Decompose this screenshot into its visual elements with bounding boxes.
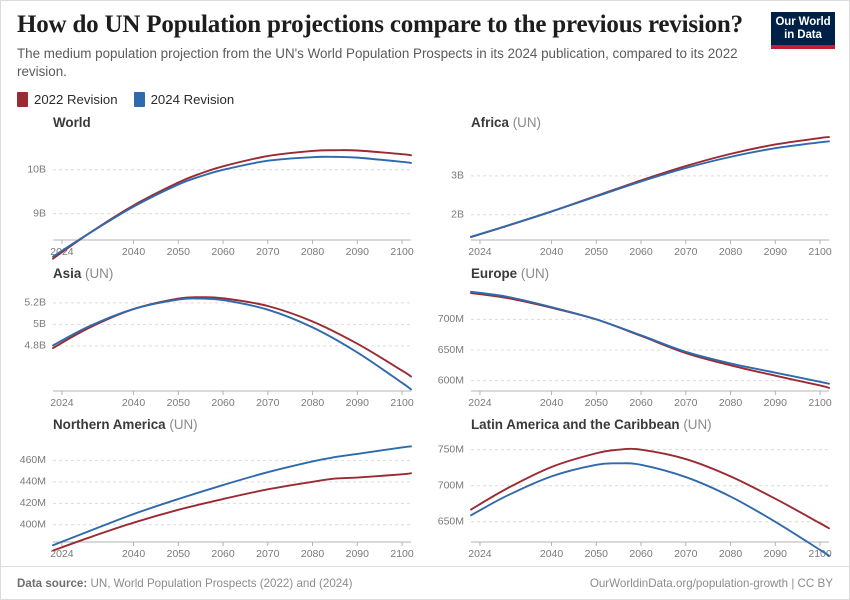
panel-northern-america[interactable]: Northern America (UN) 460M440M420M400M20…	[7, 415, 425, 566]
panel-entity-name: Asia	[53, 266, 81, 281]
page-title: How do UN Population projections compare…	[17, 11, 762, 39]
chart-subtitle: The medium population projection from th…	[17, 45, 757, 80]
our-world-in-data-logo[interactable]: Our World in Data	[771, 12, 835, 49]
x-axis-tick-label: 2024	[468, 548, 492, 560]
x-axis-tick-label: 2040	[122, 548, 146, 560]
panel-source-tag: (UN)	[169, 417, 197, 432]
y-axis-tick-label: 440M	[20, 476, 46, 488]
legend-label-2024-revision: 2024 Revision	[151, 92, 235, 107]
panel-source-tag: (UN)	[85, 266, 113, 281]
x-axis-tick-label: 2090	[346, 548, 370, 560]
panel-source-tag: (UN)	[683, 417, 711, 432]
x-axis-tick-label: 2100	[808, 246, 832, 258]
x-axis-tick-label: 2024	[468, 246, 492, 258]
panel-title-europe: Europe (UN)	[471, 266, 549, 281]
series-line	[471, 137, 829, 237]
y-axis-tick-label: 5.2B	[24, 297, 46, 309]
panel-entity-name: Europe	[471, 266, 517, 281]
series-line	[471, 292, 829, 384]
owid-chart-page: How do UN Population projections compare…	[0, 0, 850, 600]
x-axis-tick-label: 2080	[301, 397, 325, 409]
x-axis-tick-label: 2050	[585, 397, 609, 409]
series-line	[53, 447, 411, 546]
chart-footer: Data source: UN, World Population Prospe…	[1, 566, 849, 599]
y-axis-tick-label: 600M	[438, 375, 464, 387]
legend-item-2022-revision[interactable]: 2022 Revision	[17, 92, 118, 107]
panel-source-tag: (UN)	[521, 266, 549, 281]
chart-svg-africa: 3B2B20242040205020602070208020902100	[425, 113, 843, 264]
legend-label-2022-revision: 2022 Revision	[34, 92, 118, 107]
x-axis-tick-label: 2090	[346, 397, 370, 409]
x-axis-tick-label: 2070	[256, 246, 280, 258]
series-line	[471, 449, 829, 528]
legend-item-2024-revision[interactable]: 2024 Revision	[134, 92, 235, 107]
data-source-label: Data source:	[17, 577, 87, 590]
x-axis-tick-label: 2050	[167, 548, 191, 560]
x-axis-tick-label: 2024	[50, 397, 74, 409]
y-axis-tick-label: 4.8B	[24, 340, 46, 352]
panel-europe[interactable]: Europe (UN) 700M650M600M2024204020502060…	[425, 264, 843, 415]
series-line	[53, 474, 411, 551]
x-axis-tick-label: 2040	[122, 397, 146, 409]
y-axis-tick-label: 700M	[438, 314, 464, 326]
x-axis-tick-label: 2080	[301, 548, 325, 560]
panel-latin-america-caribbean[interactable]: Latin America and the Caribbean (UN) 750…	[425, 415, 843, 566]
x-axis-tick-label: 2080	[719, 548, 743, 560]
y-axis-tick-label: 2B	[451, 209, 464, 221]
x-axis-tick-label: 2100	[390, 397, 414, 409]
x-axis-tick-label: 2080	[719, 246, 743, 258]
panel-asia[interactable]: Asia (UN) 5.2B5B4.8B20242040205020602070…	[7, 264, 425, 415]
series-line	[471, 142, 829, 237]
chart-svg-latin-america-caribbean: 750M700M650M2024204020502060207020802090…	[425, 415, 843, 566]
chart-svg-northern-america: 460M440M420M400M202420402050206020702080…	[7, 415, 425, 566]
x-axis-tick-label: 2060	[211, 246, 235, 258]
panel-entity-name: World	[53, 115, 91, 130]
x-axis-tick-label: 2040	[540, 397, 564, 409]
y-axis-tick-label: 5B	[33, 319, 46, 331]
x-axis-tick-label: 2090	[764, 397, 788, 409]
x-axis-tick-label: 2070	[674, 548, 698, 560]
x-axis-tick-label: 2080	[301, 246, 325, 258]
panel-source-tag: (UN)	[513, 115, 541, 130]
data-source-text: UN, World Population Prospects (2022) an…	[90, 577, 352, 590]
x-axis-tick-label: 2090	[764, 246, 788, 258]
data-source-line: Data source: UN, World Population Prospe…	[17, 577, 353, 590]
x-axis-tick-label: 2100	[808, 397, 832, 409]
y-axis-tick-label: 700M	[438, 480, 464, 492]
panel-title-asia: Asia (UN)	[53, 266, 113, 281]
chart-svg-world: 10B9B20242040205020602070208020902100	[7, 113, 425, 264]
x-axis-tick-label: 2070	[674, 397, 698, 409]
x-axis-tick-label: 2060	[629, 548, 653, 560]
chart-svg-asia: 5.2B5B4.8B202420402050206020702080209021…	[7, 264, 425, 415]
x-axis-tick-label: 2060	[629, 246, 653, 258]
x-axis-tick-label: 2040	[122, 246, 146, 258]
chart-header: How do UN Population projections compare…	[1, 1, 849, 80]
logo-line-2: in Data	[774, 29, 832, 42]
logo-line-1: Our World	[774, 16, 832, 29]
small-multiples-grid: World 10B9B20242040205020602070208020902…	[1, 111, 849, 566]
x-axis-tick-label: 2060	[629, 397, 653, 409]
y-axis-tick-label: 420M	[20, 497, 46, 509]
attribution-link[interactable]: OurWorldinData.org/population-growth | C…	[590, 577, 833, 590]
legend-swatch-2022-revision	[17, 92, 28, 107]
x-axis-tick-label: 2090	[764, 548, 788, 560]
panel-entity-name: Northern America	[53, 417, 166, 432]
legend-swatch-2024-revision	[134, 92, 145, 107]
x-axis-tick-label: 2040	[540, 246, 564, 258]
y-axis-tick-label: 3B	[451, 170, 464, 182]
panel-entity-name: Africa	[471, 115, 509, 130]
y-axis-tick-label: 9B	[33, 208, 46, 220]
series-line	[471, 293, 829, 388]
y-axis-tick-label: 650M	[438, 516, 464, 528]
x-axis-tick-label: 2050	[585, 246, 609, 258]
x-axis-tick-label: 2100	[390, 548, 414, 560]
y-axis-tick-label: 400M	[20, 519, 46, 531]
x-axis-tick-label: 2050	[585, 548, 609, 560]
x-axis-tick-label: 2100	[390, 246, 414, 258]
x-axis-tick-label: 2070	[256, 548, 280, 560]
y-axis-tick-label: 650M	[438, 344, 464, 356]
x-axis-tick-label: 2040	[540, 548, 564, 560]
x-axis-tick-label: 2060	[211, 548, 235, 560]
x-axis-tick-label: 2090	[346, 246, 370, 258]
x-axis-tick-label: 2080	[719, 397, 743, 409]
y-axis-tick-label: 460M	[20, 454, 46, 466]
panel-world[interactable]: World 10B9B20242040205020602070208020902…	[7, 113, 425, 264]
panel-title-northern-america: Northern America (UN)	[53, 417, 198, 432]
panel-entity-name: Latin America and the Caribbean	[471, 417, 680, 432]
series-line	[53, 298, 411, 377]
chart-legend: 2022 Revision 2024 Revision	[1, 80, 849, 111]
panel-africa[interactable]: Africa (UN) 3B2B202420402050206020702080…	[425, 113, 843, 264]
x-axis-tick-label: 2050	[167, 397, 191, 409]
x-axis-tick-label: 2050	[167, 246, 191, 258]
x-axis-tick-label: 2060	[211, 397, 235, 409]
y-axis-tick-label: 10B	[27, 164, 46, 176]
panel-title-world: World	[53, 115, 91, 130]
y-axis-tick-label: 750M	[438, 444, 464, 456]
x-axis-tick-label: 2070	[256, 397, 280, 409]
x-axis-tick-label: 2024	[468, 397, 492, 409]
x-axis-tick-label: 2070	[674, 246, 698, 258]
chart-svg-europe: 700M650M600M2024204020502060207020802090…	[425, 264, 843, 415]
panel-title-africa: Africa (UN)	[471, 115, 541, 130]
panel-title-latin-america-caribbean: Latin America and the Caribbean (UN)	[471, 417, 712, 432]
